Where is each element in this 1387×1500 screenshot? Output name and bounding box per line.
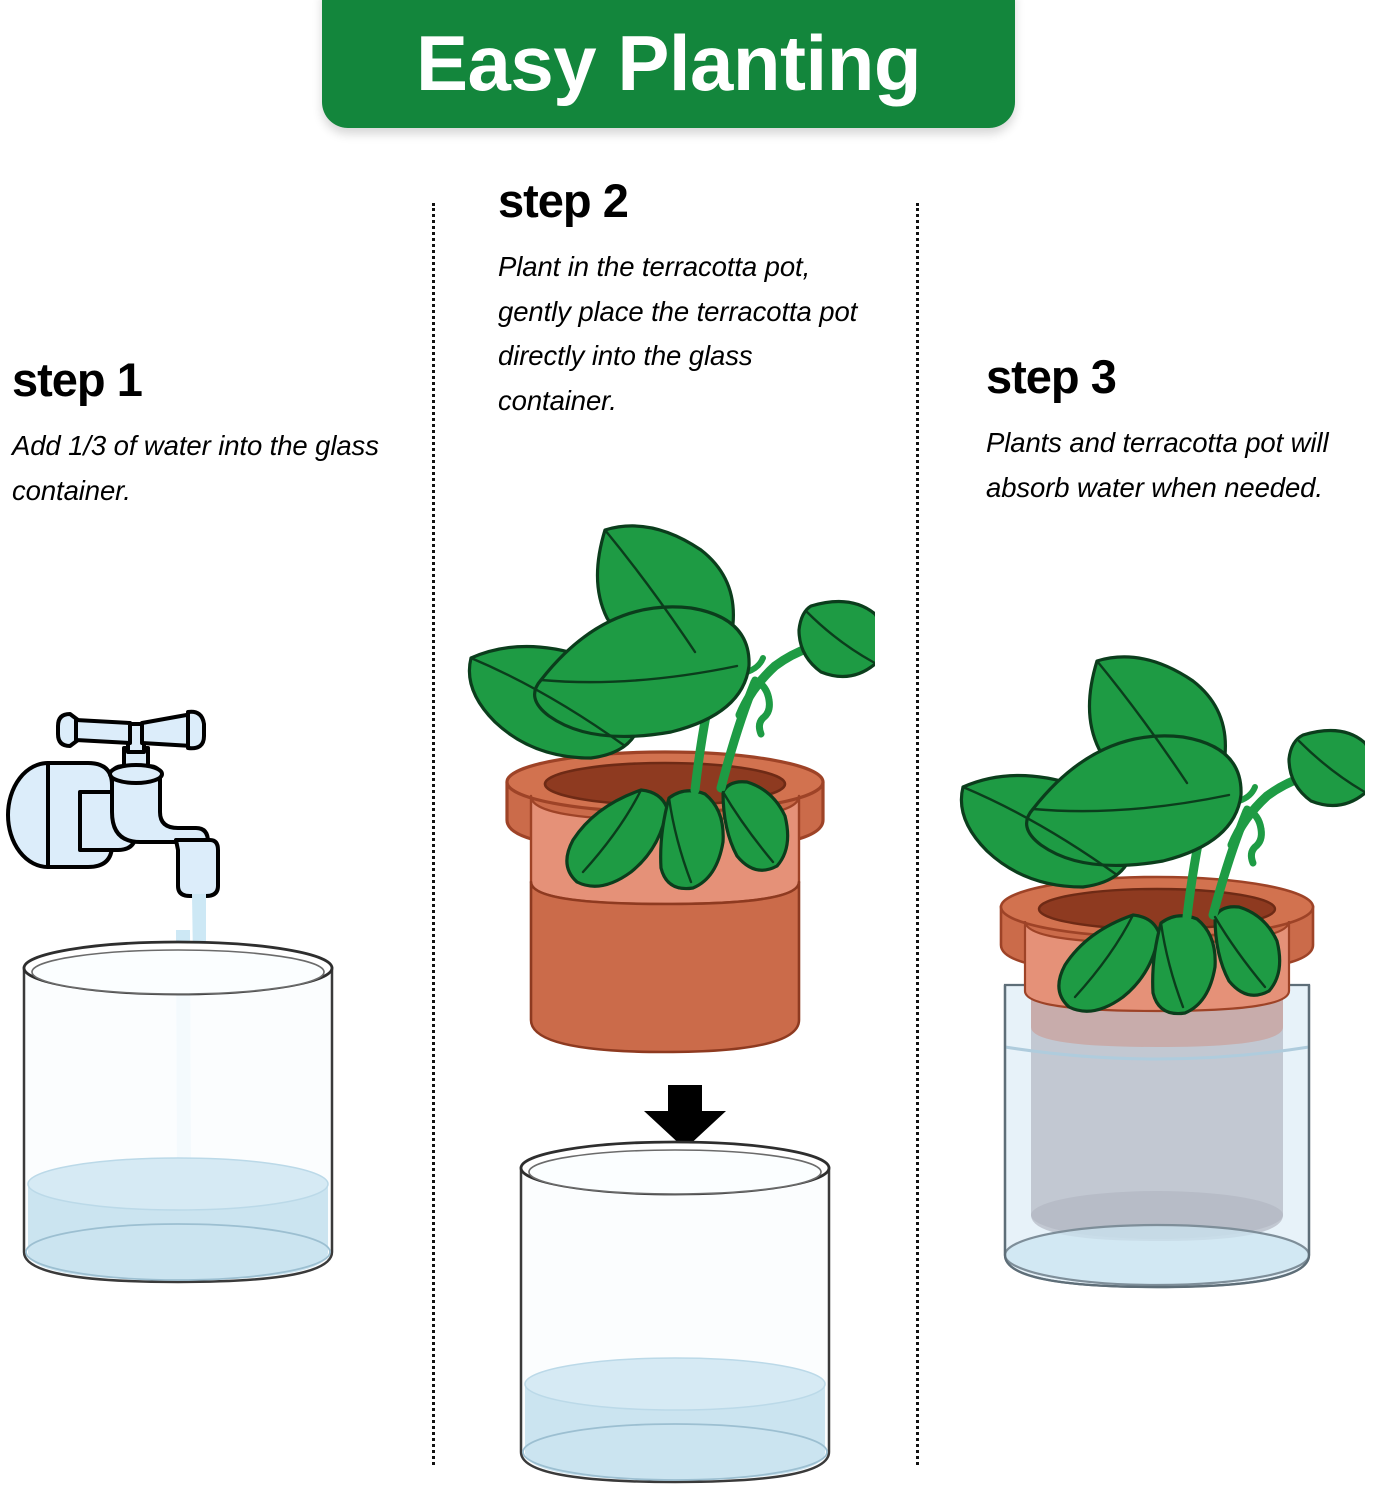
faucet-icon [0, 700, 250, 960]
glass-bottom [1005, 1225, 1309, 1285]
glass-container-illustration-step1 [8, 930, 348, 1300]
potted-plant-icon [455, 490, 875, 1090]
glass-container-illustration-step2 [500, 1130, 850, 1500]
step-3-column: step 3 Plants and terracotta pot will ab… [986, 352, 1358, 510]
water-surface [28, 1158, 328, 1210]
step-3-body: Plants and terracotta pot will absorb wa… [986, 421, 1358, 510]
step-2-heading: step 2 [498, 176, 878, 225]
step-1-heading: step 1 [12, 355, 384, 404]
potted-plant-illustration [455, 490, 875, 1090]
glass-container-icon [8, 930, 348, 1300]
step-1-body: Add 1/3 of water into the glass containe… [12, 424, 384, 513]
column-divider-left [432, 203, 435, 1465]
terracotta-pot-icon [507, 752, 823, 1052]
step-3-heading: step 3 [986, 352, 1358, 401]
water-surface [525, 1358, 825, 1410]
potted-plant-in-glass-illustration [945, 655, 1365, 1325]
step-2-body: Plant in the terracotta pot, gently plac… [498, 245, 878, 423]
submerged-pot-icon [1031, 985, 1283, 1241]
faucet-illustration [0, 700, 250, 960]
potted-plant-in-glass-icon [945, 655, 1365, 1325]
step-1-column: step 1 Add 1/3 of water into the glass c… [12, 355, 384, 513]
column-divider-right [916, 203, 919, 1465]
page-title: Easy Planting [416, 16, 921, 102]
step-2-column: step 2 Plant in the terracotta pot, gent… [498, 176, 878, 424]
glass-container-icon [500, 1130, 850, 1500]
title-banner: Easy Planting [322, 0, 1015, 128]
